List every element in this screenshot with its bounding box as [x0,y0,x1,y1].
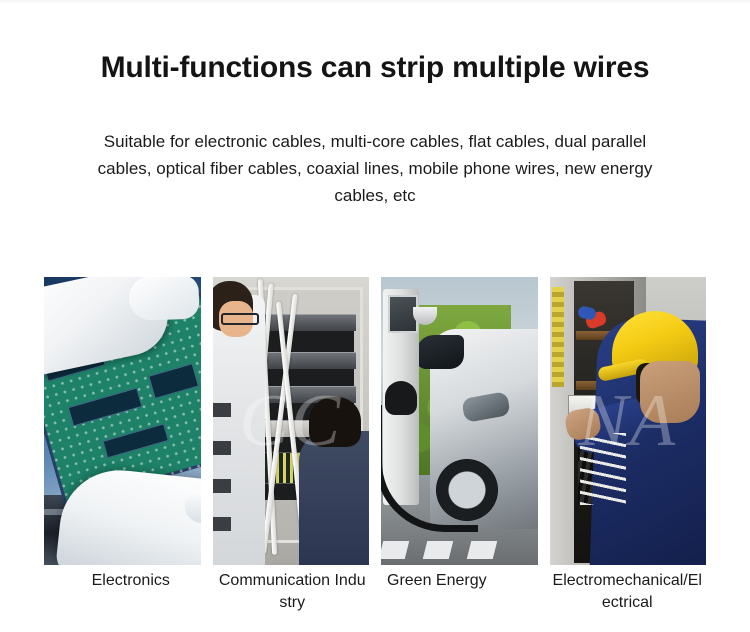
page-title: Multi-functions can strip multiple wires [0,50,750,86]
technician-seated [299,431,369,565]
application-image-communication: CC [213,277,370,565]
application-caption-row: Electronics Communication Industry Green… [44,570,706,628]
pocket [213,403,231,417]
side-mirror [416,335,464,369]
pocket [213,441,231,455]
stripped-wires [580,433,626,505]
caption-electromechanical-electrical: Electromechanical/Electrical [549,570,707,628]
caption-communication-industry: Communication Industry [218,570,368,628]
application-image-strip: CC [44,277,706,565]
technician-head [309,397,361,447]
caption-green-energy: Green Energy [379,570,537,628]
electrician-face [640,361,700,423]
application-image-electromechanical: NA [550,277,707,565]
road-marking [423,541,453,559]
glasses-icon [221,313,259,325]
caption-electronics: Electronics [44,570,206,628]
application-image-green-energy [381,277,538,565]
page-subtitle: Suitable for electronic cables, multi-co… [75,128,675,209]
application-image-electronics [44,277,201,565]
road-marking [381,541,409,559]
page-top-divider [0,0,750,4]
technician-standing [213,295,265,565]
road-marking [467,541,497,559]
terminal-strip [552,287,564,387]
pocket [213,479,231,493]
promo-page: Multi-functions can strip multiple wires… [0,0,750,632]
pocket [213,517,231,531]
rack-shelf [254,352,356,369]
